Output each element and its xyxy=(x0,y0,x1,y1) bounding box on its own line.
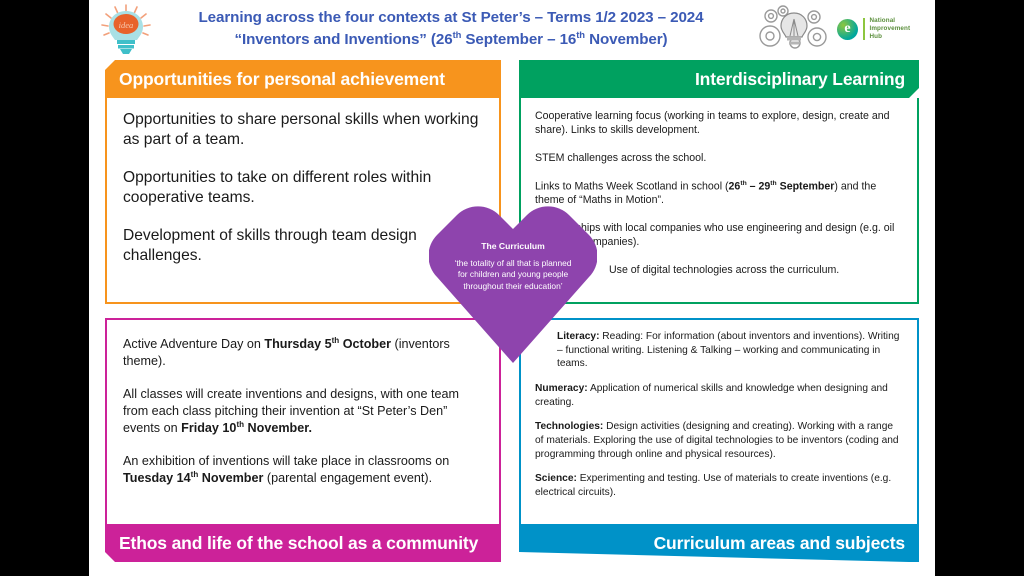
paragraph: Numeracy: Application of numerical skill… xyxy=(535,382,903,409)
paragraph: Opportunities to share personal skills w… xyxy=(123,110,483,150)
title-line-2: “Inventors and Inventions” (26th Septemb… xyxy=(234,31,667,48)
banner-curriculum-areas: Curriculum areas and subjects xyxy=(519,524,919,562)
paragraph: STEM challenges across the school. xyxy=(535,152,903,166)
banner-interdisciplinary-learning: Interdisciplinary Learning xyxy=(519,60,919,98)
nih-label: National Improvement Hub xyxy=(870,17,911,42)
paragraph: An exhibition of inventions will take pl… xyxy=(123,453,483,487)
curriculum-heart-shape: The Curriculum ‘the totality of all that… xyxy=(429,195,597,363)
national-improvement-hub-logo: e National Improvement Hub xyxy=(837,14,929,44)
paragraph: Science: Experimenting and testing. Use … xyxy=(535,472,903,499)
banner-opportunities: Opportunities for personal achievement xyxy=(105,60,501,98)
gears-lightbulb-icon xyxy=(757,3,831,55)
nih-divider xyxy=(863,18,865,40)
paragraph: Technologies: Design activities (designi… xyxy=(535,420,903,461)
paragraph: All classes will create inventions and d… xyxy=(123,386,483,437)
svg-text:idea: idea xyxy=(119,20,134,30)
paragraph: Cooperative learning focus (working in t… xyxy=(535,110,903,138)
nih-e-icon: e xyxy=(837,19,858,40)
heart-icon xyxy=(429,195,597,363)
title-line-1: Learning across the four contexts at St … xyxy=(198,9,703,26)
lightbulb-brain-idea-icon: idea xyxy=(95,3,157,55)
page-title: Learning across the four contexts at St … xyxy=(161,8,741,50)
slide-header: idea Learning across the four contexts a… xyxy=(89,0,935,58)
banner-ethos: Ethos and life of the school as a commun… xyxy=(105,524,501,562)
slide-canvas: idea Learning across the four contexts a… xyxy=(89,0,935,576)
